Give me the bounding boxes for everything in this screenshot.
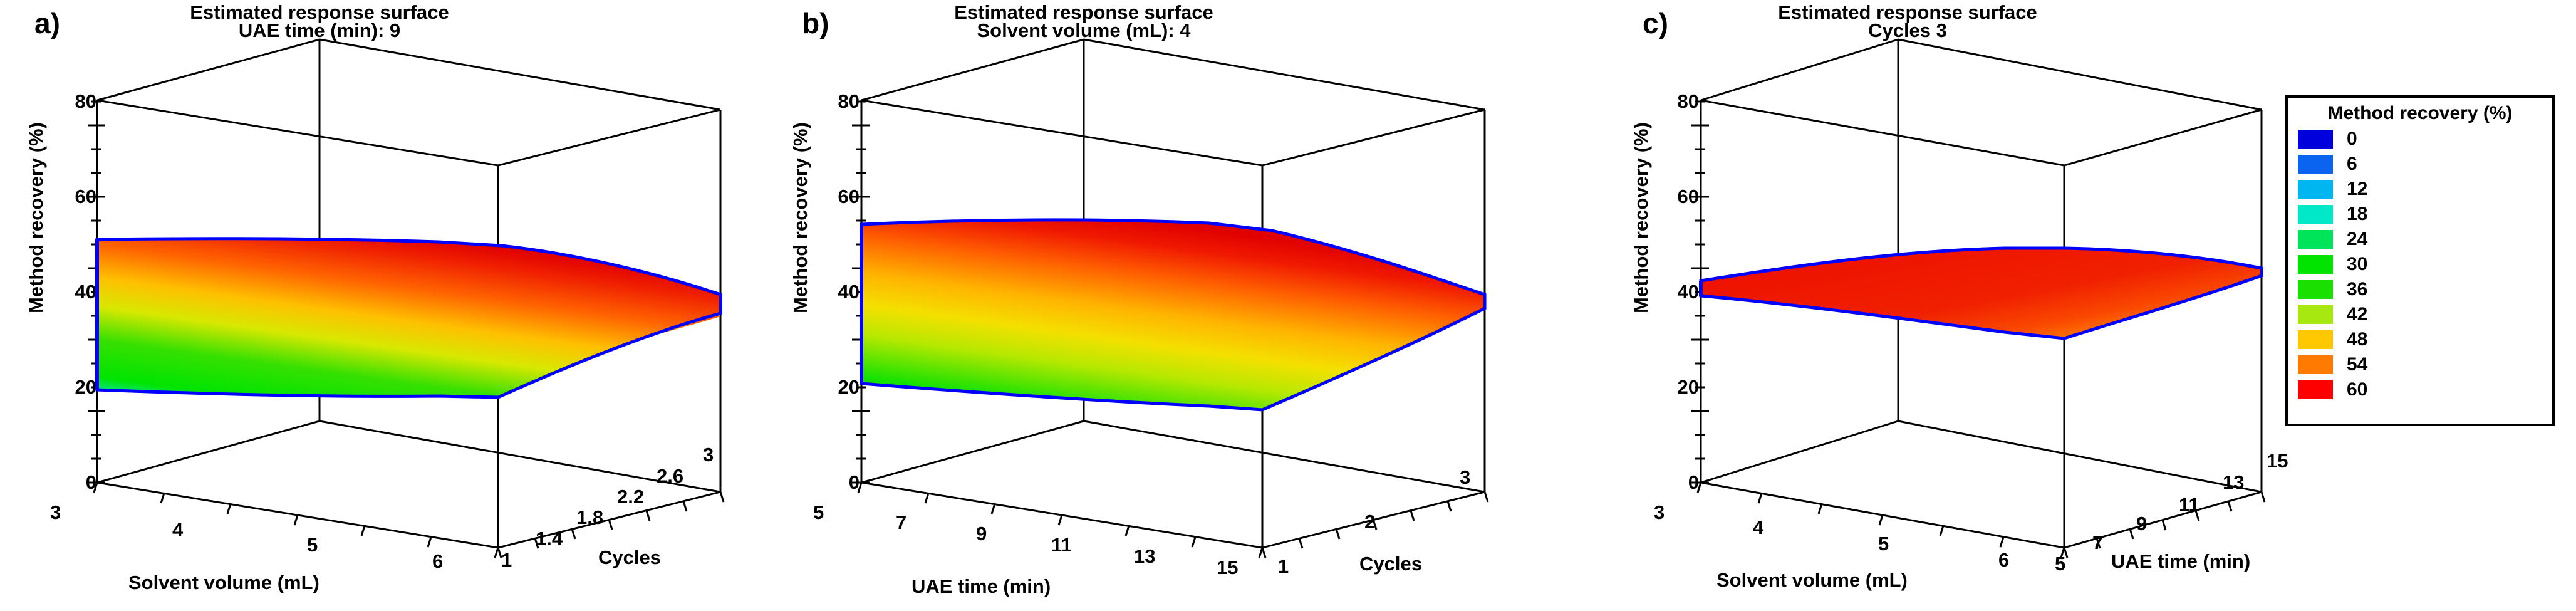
panel-a-x-ticks xyxy=(94,483,498,558)
legend-row-4: 24 xyxy=(2298,227,2552,252)
panel-b-x-ticks xyxy=(858,483,1262,558)
legend-row-10: 60 xyxy=(2298,377,2552,402)
panel-b-surface-plot xyxy=(771,0,1616,611)
legend-box: Method recovery (%) 0 6 12 18 24 30 36 xyxy=(2285,95,2555,426)
legend-row-0: 0 xyxy=(2298,127,2552,152)
legend-swatch-2 xyxy=(2298,180,2333,199)
legend-swatch-4 xyxy=(2298,230,2333,249)
panel-c-surface-plot xyxy=(1616,0,2280,611)
legend-swatch-5 xyxy=(2298,255,2333,274)
legend-row-9: 54 xyxy=(2298,352,2552,377)
legend-swatch-10 xyxy=(2298,380,2333,399)
legend-label-5: 30 xyxy=(2347,254,2367,275)
legend-row-7: 42 xyxy=(2298,302,2552,327)
legend-title: Method recovery (%) xyxy=(2288,103,2552,124)
legend-row-3: 18 xyxy=(2298,202,2552,227)
panel-b: b) Estimated response surface Solvent vo… xyxy=(771,0,1616,611)
panel-b-surface-main xyxy=(861,220,1485,410)
panel-c-y-ticks xyxy=(2064,492,2265,558)
legend-rows: 0 6 12 18 24 30 36 42 xyxy=(2288,127,2552,402)
legend-row-5: 30 xyxy=(2298,252,2552,277)
legend-label-0: 0 xyxy=(2347,128,2357,150)
legend-swatch-8 xyxy=(2298,330,2333,349)
legend-label-1: 6 xyxy=(2347,154,2357,175)
legend-label-4: 24 xyxy=(2347,229,2367,250)
legend-label-6: 36 xyxy=(2347,279,2367,300)
legend-swatch-6 xyxy=(2298,280,2333,299)
legend-swatch-7 xyxy=(2298,305,2333,324)
legend-label-10: 60 xyxy=(2347,379,2367,400)
legend-swatch-3 xyxy=(2298,205,2333,224)
panel-c: c) Estimated response surface Cycles 3 M… xyxy=(1616,0,2274,611)
panel-a-surface-main xyxy=(97,239,720,397)
legend-swatch-0 xyxy=(2298,130,2333,149)
legend-label-8: 48 xyxy=(2347,329,2367,350)
panel-b-y-ticks xyxy=(1262,492,1488,558)
legend-row-8: 48 xyxy=(2298,327,2552,352)
legend-row-2: 12 xyxy=(2298,177,2552,202)
panel-a-y-ticks xyxy=(498,492,724,558)
legend-swatch-9 xyxy=(2298,355,2333,374)
panel-c-x-ticks xyxy=(1698,483,2064,558)
panel-c-surface-main xyxy=(1701,248,2262,338)
legend-row-6: 36 xyxy=(2298,277,2552,302)
legend-label-7: 42 xyxy=(2347,304,2367,325)
legend-swatch-1 xyxy=(2298,155,2333,174)
legend-label-2: 12 xyxy=(2347,179,2367,200)
legend-row-1: 6 xyxy=(2298,152,2552,177)
panel-a-surface-plot xyxy=(0,0,771,611)
legend-label-9: 54 xyxy=(2347,354,2367,375)
legend-label-3: 18 xyxy=(2347,204,2367,225)
panel-a: a) Estimated response surface UAE time (… xyxy=(0,0,771,611)
